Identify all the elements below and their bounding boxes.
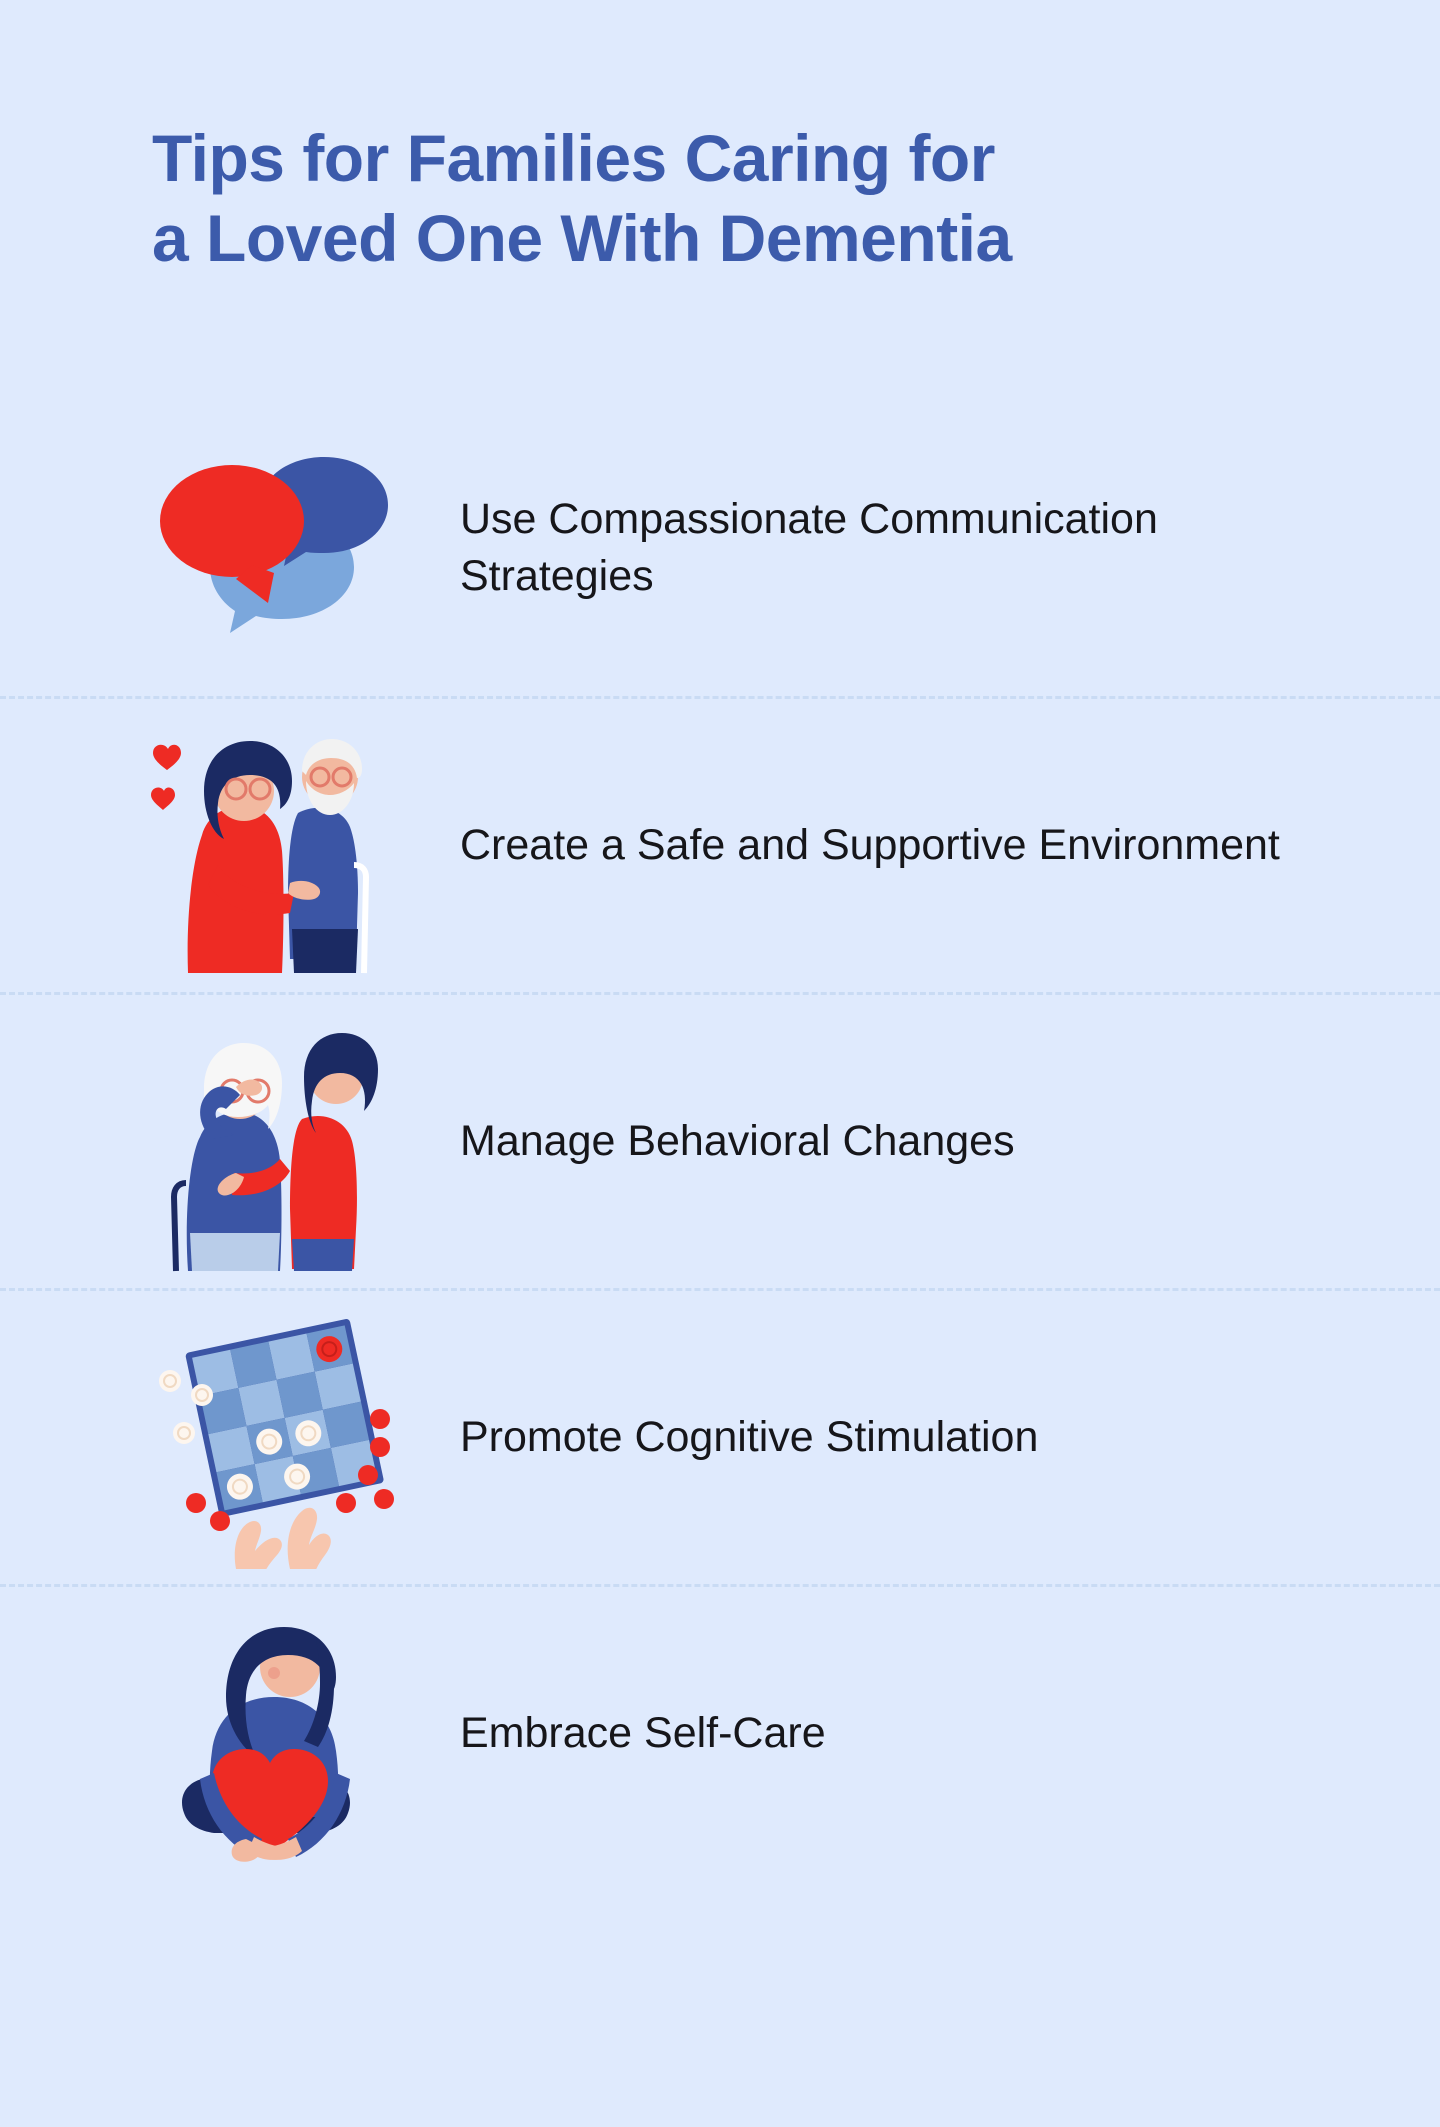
tip-row-2: Create a Safe and Supportive Environment [0, 696, 1440, 992]
woman-hugging-heart-icon [140, 1603, 402, 1865]
checkerboard-game-icon [140, 1307, 402, 1569]
tip-row-4: Promote Cognitive Stimulation [0, 1288, 1440, 1584]
speech-bubbles-icon [140, 417, 402, 679]
infographic-poster: Tips for Families Caring for a Loved One… [0, 0, 1440, 2127]
tip-label-5: Embrace Self-Care [402, 1705, 826, 1762]
tips-list: Use Compassionate Communication Strategi… [0, 400, 1440, 1880]
page-title: Tips for Families Caring for a Loved One… [152, 118, 1332, 278]
page-title-line-1: Tips for Families Caring for [152, 118, 1332, 198]
tip-row-1: Use Compassionate Communication Strategi… [0, 400, 1440, 696]
caregiver-supporting-elder-icon [140, 1011, 402, 1273]
tip-row-3: Manage Behavioral Changes [0, 992, 1440, 1288]
tip-label-3: Manage Behavioral Changes [402, 1113, 1015, 1170]
tip-label-1: Use Compassionate Communication Strategi… [402, 491, 1300, 605]
tip-row-5: Embrace Self-Care [0, 1584, 1440, 1880]
couple-embracing-icon [140, 715, 402, 977]
tip-label-4: Promote Cognitive Stimulation [402, 1409, 1038, 1466]
page-title-line-2: a Loved One With Dementia [152, 198, 1332, 278]
tip-label-2: Create a Safe and Supportive Environment [402, 817, 1280, 874]
